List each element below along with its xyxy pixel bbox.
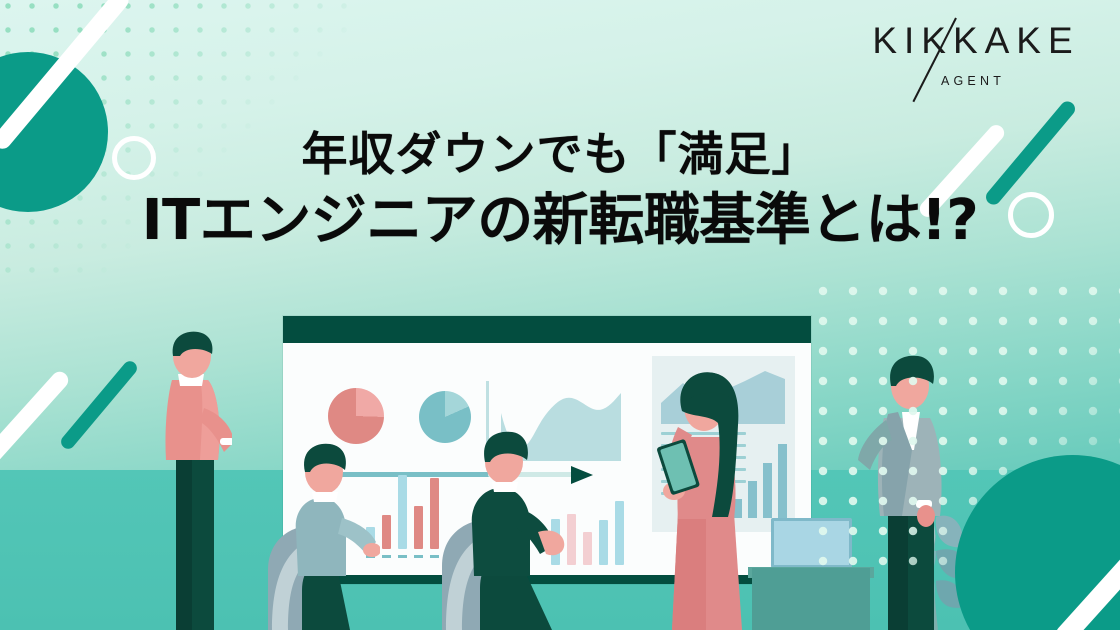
bar — [778, 444, 787, 518]
tick — [382, 555, 391, 558]
bar — [414, 506, 423, 549]
poster-canvas: KIKKAKE AGENT 年収ダウンでも「満足」 ITエンジニアの新転職基準と… — [0, 0, 1120, 630]
bar — [382, 515, 391, 549]
headline-line-1: 年収ダウンでも「満足」 — [0, 128, 1120, 181]
seated-man-sage-shirt — [250, 430, 380, 630]
tick — [414, 555, 423, 558]
bar — [583, 532, 592, 565]
tick — [398, 555, 407, 558]
headline-line-2: ITエンジニアの新転職基準とは!? — [0, 189, 1120, 254]
logo-subtitle: AGENT — [848, 74, 1098, 88]
bar — [763, 463, 772, 518]
desk — [752, 568, 870, 630]
bar — [615, 501, 624, 565]
logo-wordmark: KIKKAKE — [848, 22, 1098, 59]
headline-block: 年収ダウンでも「満足」 ITエンジニアの新転職基準とは!? — [0, 128, 1120, 254]
bar — [599, 520, 608, 565]
woman-with-tablet — [652, 365, 762, 630]
standing-man-pink-shirt — [142, 330, 232, 630]
brand-logo[interactable]: KIKKAKE AGENT — [848, 22, 1098, 114]
seated-man-green-sweater — [432, 420, 582, 630]
board-top-frame — [283, 316, 811, 343]
bar — [398, 475, 407, 549]
